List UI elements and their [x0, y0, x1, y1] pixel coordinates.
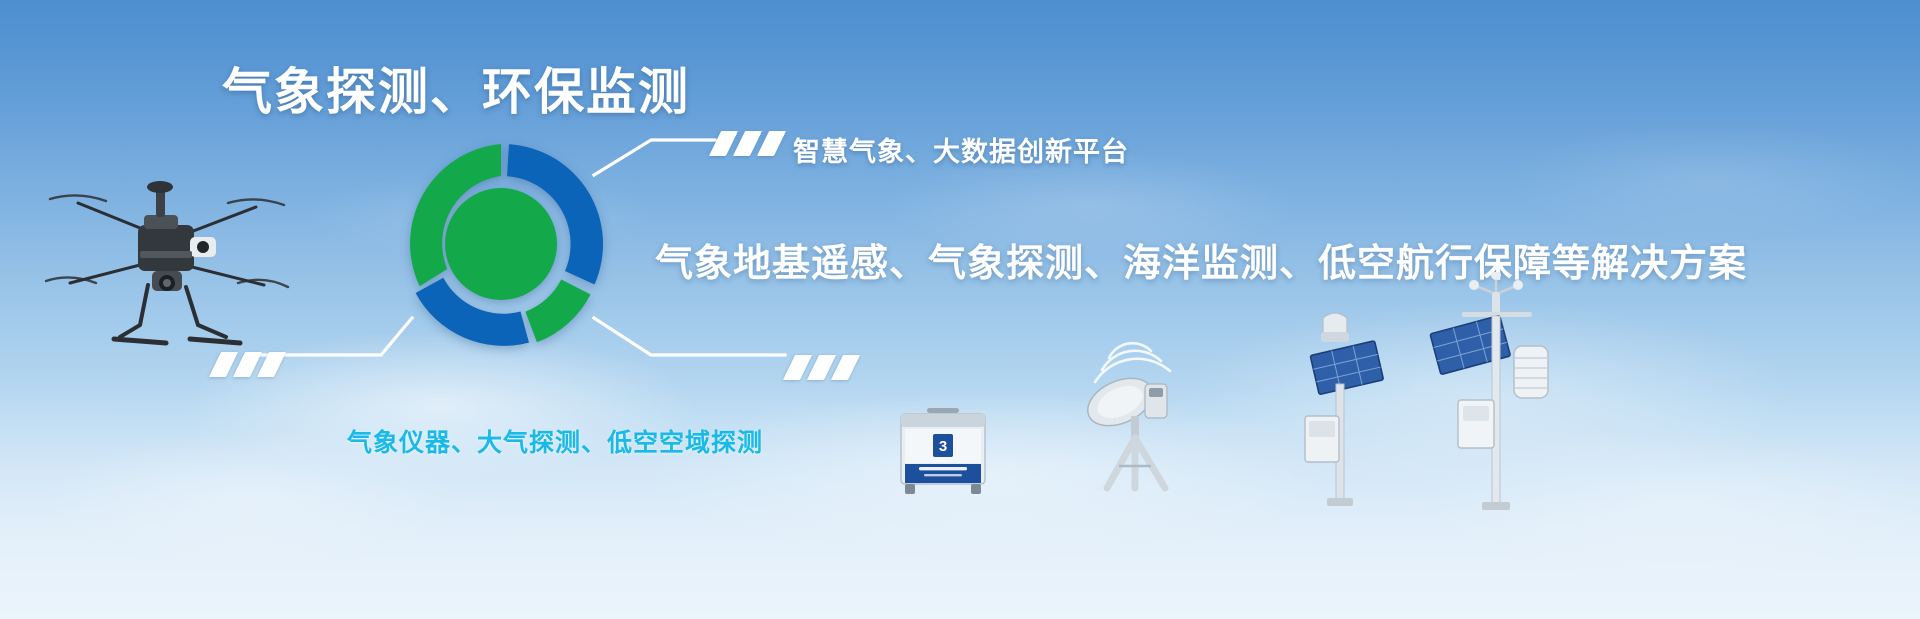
donut-diagram	[385, 128, 617, 360]
slash-accent-icon	[789, 355, 854, 380]
page-title: 气象探测、环保监测	[222, 52, 690, 124]
marketing-banner: 气象探测、环保监测 智慧气象、大数据创新平台 气象地基遥感、气象探测、海洋监测、…	[0, 0, 1920, 619]
slash-accent-icon	[215, 352, 280, 377]
weather-mast-photo	[1418, 272, 1563, 512]
bullet-label-top: 智慧气象、大数据创新平台	[793, 130, 1129, 169]
instrument-cabinet-photo: 3	[893, 398, 993, 498]
satellite-dish-photo	[1073, 318, 1198, 493]
solar-weather-station-photo	[1283, 300, 1393, 510]
bullet-label-bottom: 气象仪器、大气探测、低空空域探测	[347, 423, 763, 459]
slash-accent-icon	[715, 131, 780, 156]
drone-photo	[40, 155, 290, 355]
svg-text:3: 3	[939, 438, 947, 455]
solution-headline: 气象地基遥感、气象探测、海洋监测、低空航行保障等解决方案	[655, 232, 1747, 287]
